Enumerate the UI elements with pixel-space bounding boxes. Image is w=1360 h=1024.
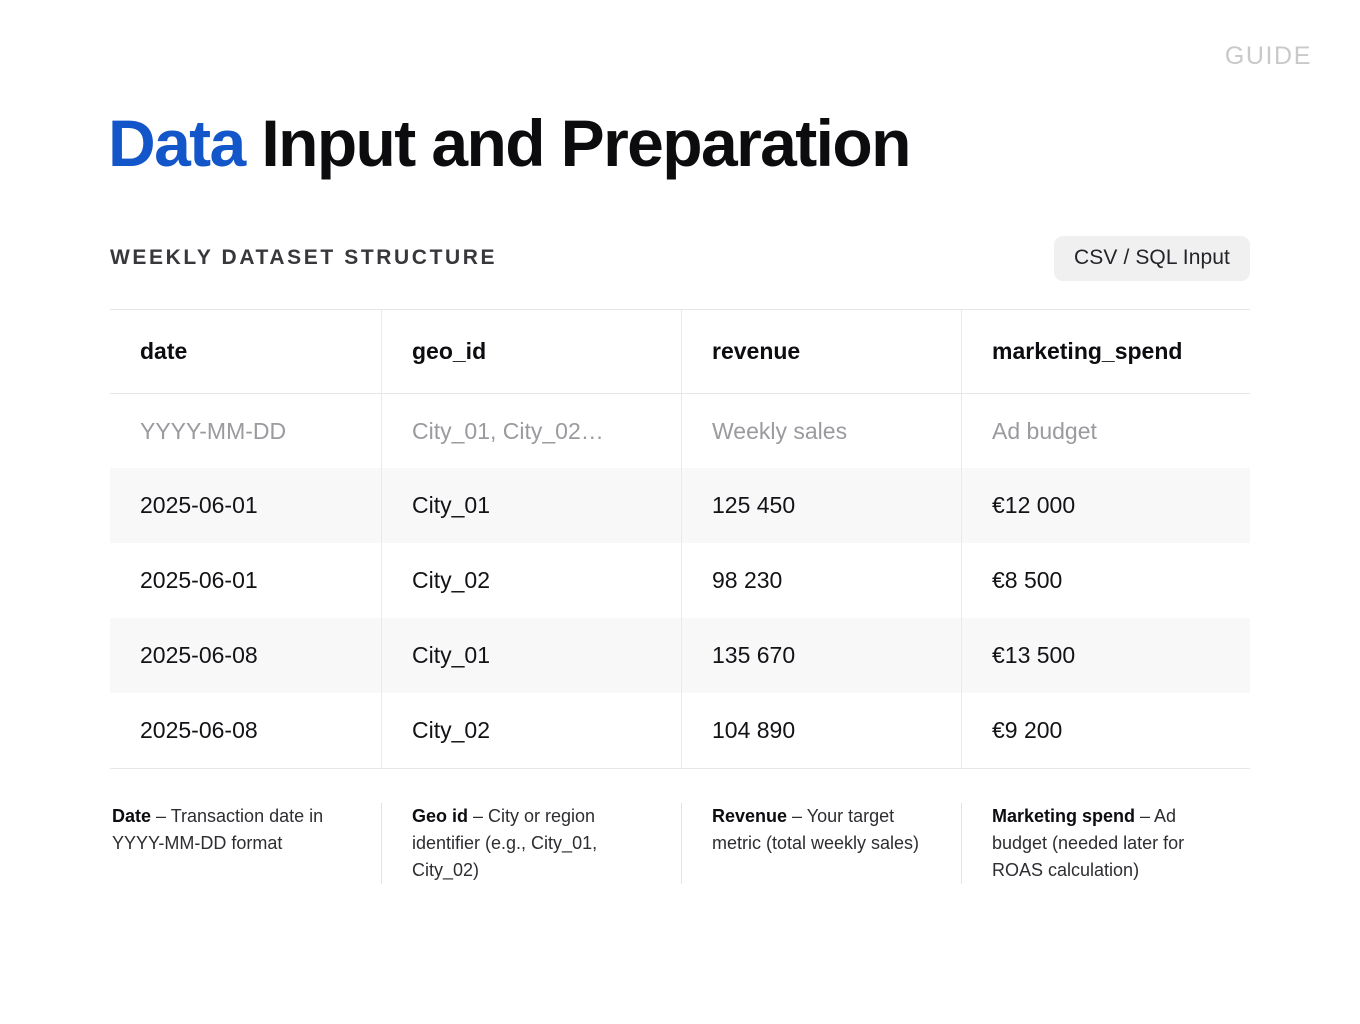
cell-date: 2025-06-08	[110, 693, 381, 768]
page-title: Data Input and Preparation	[108, 104, 910, 182]
cell-geo-id: City_01	[381, 468, 681, 543]
cell-geo-id: City_02	[381, 543, 681, 618]
note-date: Date – Transaction date in YYYY-MM-DD fo…	[110, 803, 381, 884]
cell-marketing-spend: €13 500	[961, 618, 1250, 693]
table-header-row: date geo_id revenue marketing_spend	[110, 310, 1250, 394]
column-header-revenue: revenue	[681, 310, 961, 393]
cell-revenue: 135 670	[681, 618, 961, 693]
note-term-marketing-spend: Marketing spend	[992, 806, 1135, 826]
column-header-marketing-spend: marketing_spend	[961, 310, 1250, 393]
note-geo-id: Geo id – City or region identifier (e.g.…	[381, 803, 681, 884]
note-term-geo-id: Geo id	[412, 806, 468, 826]
description-cell-geo-id: City_01, City_02…	[381, 394, 681, 468]
column-header-geo-id: geo_id	[381, 310, 681, 393]
slide-root: GUIDE Data Input and Preparation WEEKLY …	[0, 0, 1360, 1024]
column-notes: Date – Transaction date in YYYY-MM-DD fo…	[110, 803, 1250, 884]
table-row: 2025-06-01 City_01 125 450 €12 000	[110, 468, 1250, 543]
note-marketing-spend: Marketing spend – Ad budget (needed late…	[961, 803, 1250, 884]
note-revenue: Revenue – Your target metric (total week…	[681, 803, 961, 884]
description-cell-date: YYYY-MM-DD	[110, 394, 381, 468]
note-term-date: Date	[112, 806, 151, 826]
cell-date: 2025-06-01	[110, 543, 381, 618]
cell-marketing-spend: €12 000	[961, 468, 1250, 543]
table-row: 2025-06-08 City_01 135 670 €13 500	[110, 618, 1250, 693]
description-cell-revenue: Weekly sales	[681, 394, 961, 468]
cell-revenue: 98 230	[681, 543, 961, 618]
table-row: 2025-06-08 City_02 104 890 €9 200	[110, 693, 1250, 768]
column-header-date: date	[110, 310, 381, 393]
cell-revenue: 104 890	[681, 693, 961, 768]
section-heading: WEEKLY DATASET STRUCTURE	[110, 246, 497, 270]
cell-geo-id: City_02	[381, 693, 681, 768]
cell-marketing-spend: €8 500	[961, 543, 1250, 618]
table-description-row: YYYY-MM-DD City_01, City_02… Weekly sale…	[110, 394, 1250, 468]
note-term-revenue: Revenue	[712, 806, 787, 826]
page-title-accent: Data	[108, 106, 245, 180]
cell-geo-id: City_01	[381, 618, 681, 693]
dataset-structure-table: date geo_id revenue marketing_spend YYYY…	[110, 309, 1250, 769]
cell-date: 2025-06-01	[110, 468, 381, 543]
status-badge: CSV / SQL Input	[1054, 236, 1250, 281]
cell-marketing-spend: €9 200	[961, 693, 1250, 768]
cell-date: 2025-06-08	[110, 618, 381, 693]
section-header-row: WEEKLY DATASET STRUCTURE CSV / SQL Input	[110, 234, 1250, 282]
table-row: 2025-06-01 City_02 98 230 €8 500	[110, 543, 1250, 618]
guide-eyebrow-label: GUIDE	[1225, 42, 1312, 71]
page-title-rest: Input and Preparation	[245, 106, 910, 180]
description-cell-marketing-spend: Ad budget	[961, 394, 1250, 468]
cell-revenue: 125 450	[681, 468, 961, 543]
